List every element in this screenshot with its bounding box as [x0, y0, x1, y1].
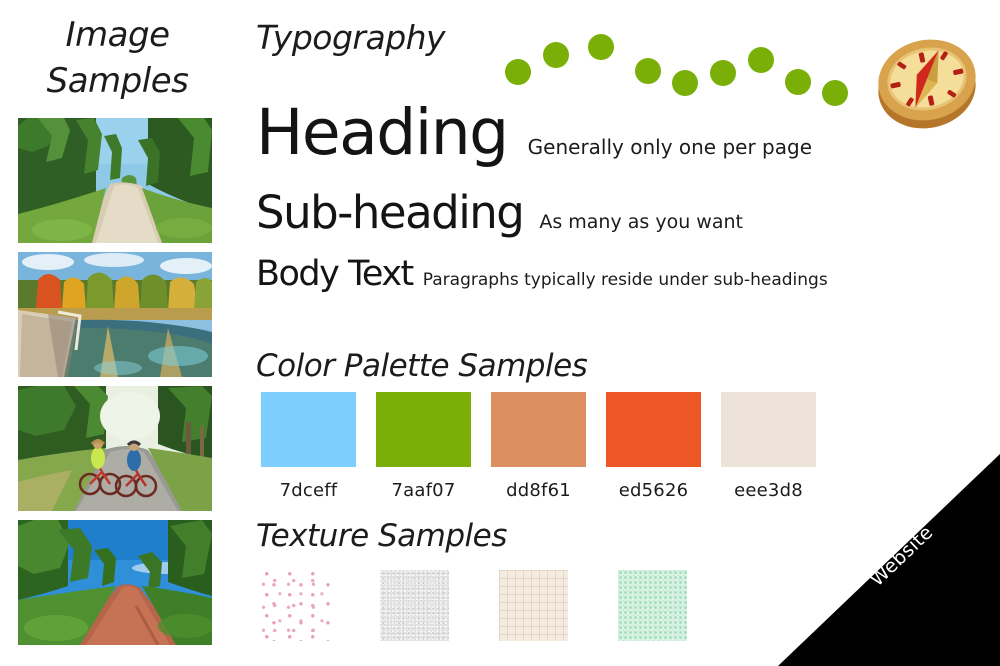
color-swatch-chip[interactable] — [491, 392, 586, 467]
color-swatch-chip[interactable] — [606, 392, 701, 467]
arc-dot — [710, 60, 736, 86]
arc-dot — [543, 42, 569, 68]
red-dirt-trail-photo — [18, 520, 212, 645]
color-swatch-cell[interactable]: 7dceff — [261, 392, 356, 501]
color-swatch-label: ed5626 — [606, 480, 701, 501]
arc-dot — [822, 80, 848, 106]
color-swatch-chip[interactable] — [261, 392, 356, 467]
texture-swatch[interactable] — [261, 570, 330, 641]
cyclists-photo — [18, 386, 212, 511]
texture-swatch[interactable] — [380, 570, 449, 641]
heading-sample: Heading — [256, 101, 508, 165]
corner-ribbon: Proposed Bike Trail Website — [778, 454, 1000, 666]
color-swatch-cell[interactable]: 7aaf07 — [376, 392, 471, 501]
typography-row-subheading: Sub-heading As many as you want — [256, 190, 743, 236]
image-sample-thumbnail[interactable] — [18, 252, 212, 377]
image-sample-thumbnail[interactable] — [18, 520, 212, 645]
color-swatch-label: 7dceff — [261, 480, 356, 501]
image-sample-thumbnail[interactable] — [18, 386, 212, 511]
texture-samples-row — [261, 570, 687, 641]
color-swatch-cell[interactable]: ed5626 — [606, 392, 701, 501]
arc-dot — [785, 69, 811, 95]
color-swatch-cell[interactable]: dd8f61 — [491, 392, 586, 501]
image-samples-title: Image Samples — [20, 12, 215, 104]
typography-title: Typography — [256, 18, 445, 57]
image-sample-thumbnail[interactable] — [18, 118, 212, 243]
heading-note: Generally only one per page — [528, 135, 812, 159]
arc-dot — [672, 70, 698, 96]
arc-dot — [588, 34, 614, 60]
color-swatch-label: 7aaf07 — [376, 480, 471, 501]
color-swatch-label: dd8f61 — [491, 480, 586, 501]
arc-dot — [505, 59, 531, 85]
texture-swatch[interactable] — [618, 570, 687, 641]
texture-swatch[interactable] — [499, 570, 568, 641]
compass-icon — [868, 22, 986, 140]
typography-row-body: Body Text Paragraphs typically reside un… — [256, 256, 828, 292]
compass-glyph — [868, 22, 986, 140]
arc-dot — [635, 58, 661, 84]
texture-samples-title: Texture Samples — [256, 518, 507, 554]
subheading-sample: Sub-heading — [256, 190, 523, 236]
forest-trail-photo — [18, 118, 212, 243]
autumn-boardwalk-photo — [18, 252, 212, 377]
body-text-sample: Body Text — [256, 256, 413, 292]
green-dot-arc-decoration — [495, 28, 865, 114]
color-palette-row: 7dceff7aaf07dd8f61ed5626eee3d8 — [261, 392, 816, 501]
color-swatch-chip[interactable] — [376, 392, 471, 467]
arc-dot — [748, 47, 774, 73]
style-tile-board: Image Samples — [0, 0, 1000, 666]
subheading-note: As many as you want — [539, 211, 743, 233]
color-palette-title: Color Palette Samples — [256, 348, 587, 384]
body-text-note: Paragraphs typically reside under sub-he… — [423, 270, 828, 290]
